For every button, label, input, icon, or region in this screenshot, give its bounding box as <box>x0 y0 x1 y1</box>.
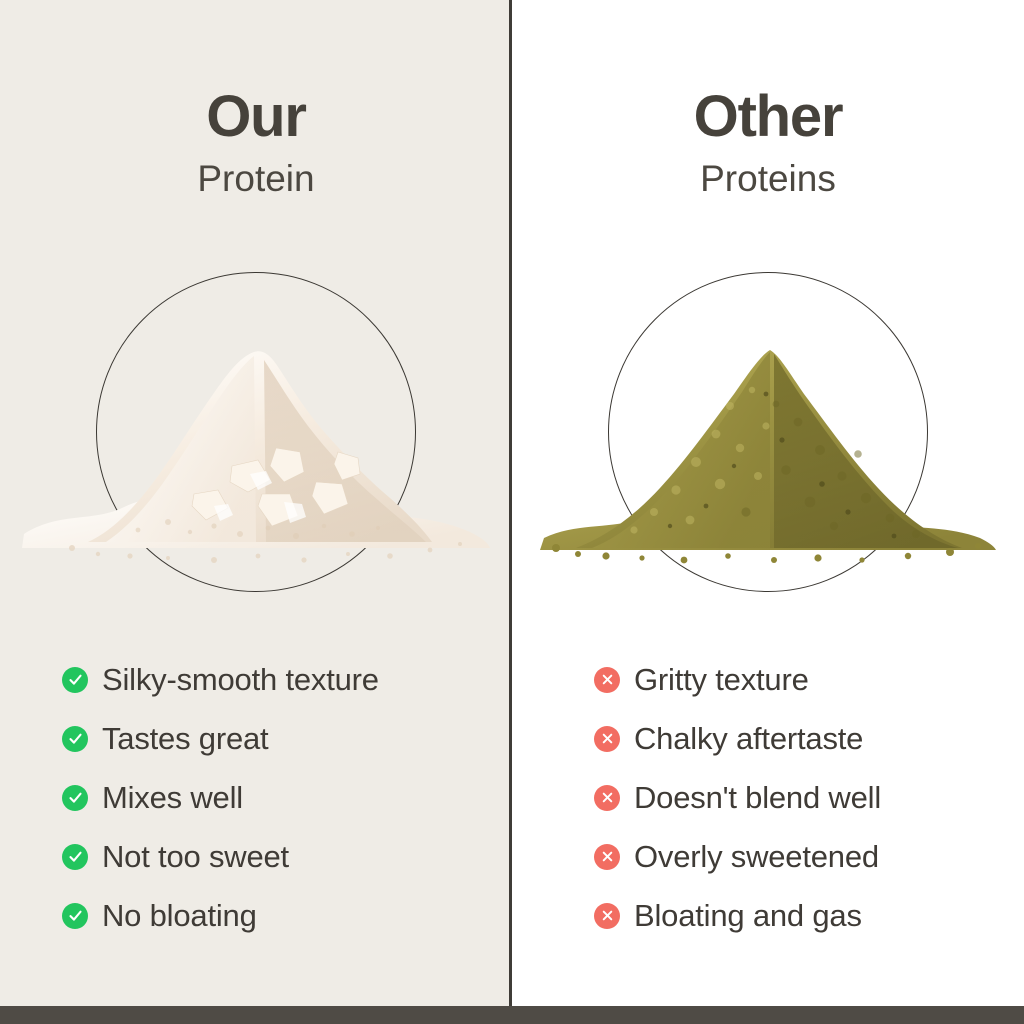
list-item-label: Chalky aftertaste <box>634 721 863 757</box>
cream-protein-powder-mound <box>18 298 494 580</box>
list-item: Tastes great <box>62 709 492 768</box>
right-heading-main: Other <box>512 88 1024 146</box>
right-heading-sub: Proteins <box>512 160 1024 197</box>
list-item-label: Silky-smooth texture <box>102 662 379 698</box>
left-heading-main: Our <box>0 88 512 146</box>
list-item: Not too sweet <box>62 827 492 886</box>
panel-divider <box>509 0 512 1006</box>
olive-powder-illustration <box>530 298 1006 580</box>
cross-icon <box>594 667 620 693</box>
left-heading-sub: Protein <box>0 160 512 197</box>
list-item-label: Overly sweetened <box>634 839 879 875</box>
list-item-label: Not too sweet <box>102 839 289 875</box>
cream-powder-illustration <box>18 298 494 580</box>
cross-icon <box>594 844 620 870</box>
list-item: Doesn't blend well <box>594 768 1014 827</box>
list-item-label: Doesn't blend well <box>634 780 881 816</box>
list-item-label: No bloating <box>102 898 257 934</box>
list-item-label: Tastes great <box>102 721 268 757</box>
check-icon <box>62 785 88 811</box>
cross-icon <box>594 903 620 929</box>
list-item-label: Mixes well <box>102 780 243 816</box>
list-item: Overly sweetened <box>594 827 1014 886</box>
right-drawback-list: Gritty texture Chalky aftertaste Doesn't… <box>594 650 1014 945</box>
check-icon <box>62 726 88 752</box>
cross-icon <box>594 785 620 811</box>
list-item: Chalky aftertaste <box>594 709 1014 768</box>
olive-protein-powder-mound <box>530 298 1006 580</box>
list-item: Gritty texture <box>594 650 1014 709</box>
panel-our-protein: Our Protein <box>0 0 512 1024</box>
list-item-label: Bloating and gas <box>634 898 862 934</box>
check-icon <box>62 667 88 693</box>
left-benefit-list: Silky-smooth texture Tastes great Mixes … <box>62 650 492 945</box>
right-heading-block: Other Proteins <box>512 88 1024 197</box>
check-icon <box>62 903 88 929</box>
list-item: No bloating <box>62 886 492 945</box>
right-product-circle <box>608 272 928 592</box>
list-item: Mixes well <box>62 768 492 827</box>
list-item-label: Gritty texture <box>634 662 809 698</box>
cross-icon <box>594 726 620 752</box>
left-product-circle <box>96 272 416 592</box>
list-item: Bloating and gas <box>594 886 1014 945</box>
bottom-bar <box>0 1006 1024 1024</box>
check-icon <box>62 844 88 870</box>
list-item: Silky-smooth texture <box>62 650 492 709</box>
left-heading-block: Our Protein <box>0 88 512 197</box>
comparison-infographic: Our Protein <box>0 0 1024 1024</box>
